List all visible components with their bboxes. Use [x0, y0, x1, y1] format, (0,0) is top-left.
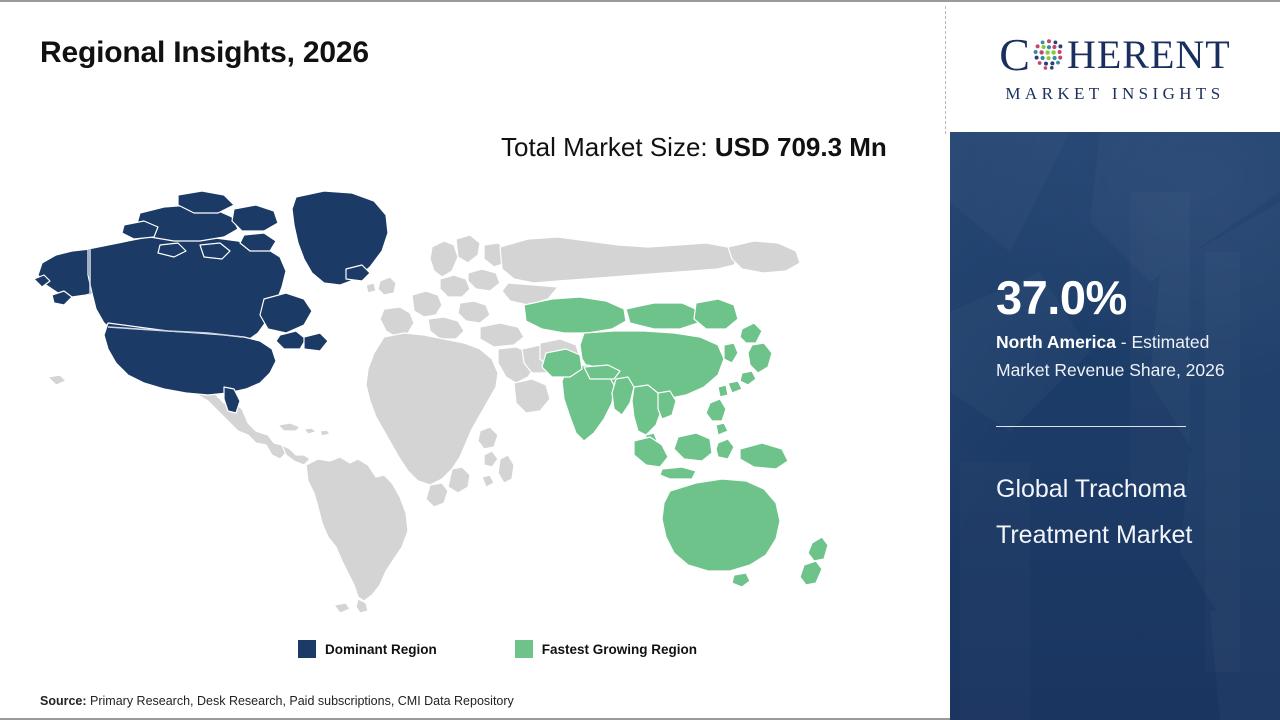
world-map-svg — [28, 187, 838, 617]
world-map — [28, 187, 838, 617]
page-title: Regional Insights, 2026 — [40, 36, 369, 70]
market-share-region: North America — [996, 332, 1116, 352]
square-swatch-icon — [298, 640, 316, 658]
source-label: Source: — [40, 694, 87, 708]
logo-word-rest: HERENT — [1067, 35, 1231, 75]
map-region-fastest-growing — [524, 297, 828, 587]
dot-globe-svg — [1032, 37, 1066, 71]
market-share-description: North America - Estimated Market Revenue… — [996, 328, 1264, 385]
total-market-size-value: USD 709.3 Mn — [715, 132, 887, 162]
legend-label-fastest-growing: Fastest Growing Region — [542, 642, 697, 657]
legend-label-dominant: Dominant Region — [325, 642, 437, 657]
regional-insights-infographic: Regional Insights, 2026 Total Market Siz… — [0, 0, 1280, 720]
legend-item-fastest-growing: Fastest Growing Region — [515, 640, 697, 658]
brand-logo: C — [950, 4, 1280, 132]
map-legend: Dominant Region Fastest Growing Region — [298, 640, 697, 658]
legend-item-dominant: Dominant Region — [298, 640, 437, 658]
logo-letter-c: C — [999, 32, 1031, 78]
square-swatch-icon — [515, 640, 533, 658]
brand-logo-subtitle: MARKET INSIGHTS — [1005, 84, 1224, 104]
brand-logo-wordmark: C — [999, 32, 1230, 78]
market-share-percent: 37.0% — [996, 274, 1127, 321]
panel-divider — [996, 426, 1186, 427]
source-text: Primary Research, Desk Research, Paid su… — [87, 694, 514, 708]
stat-panel: 37.0% North America - Estimated Market R… — [950, 132, 1280, 720]
vertical-divider — [945, 6, 946, 134]
dot-globe-icon — [1032, 37, 1066, 71]
map-region-dominant — [34, 191, 388, 413]
total-market-size-label: Total Market Size: — [501, 132, 715, 162]
total-market-size: Total Market Size: USD 709.3 Mn — [501, 128, 911, 166]
market-name: Global Trachoma Treatment Market — [996, 467, 1226, 558]
source-note: Source: Primary Research, Desk Research,… — [40, 694, 514, 708]
